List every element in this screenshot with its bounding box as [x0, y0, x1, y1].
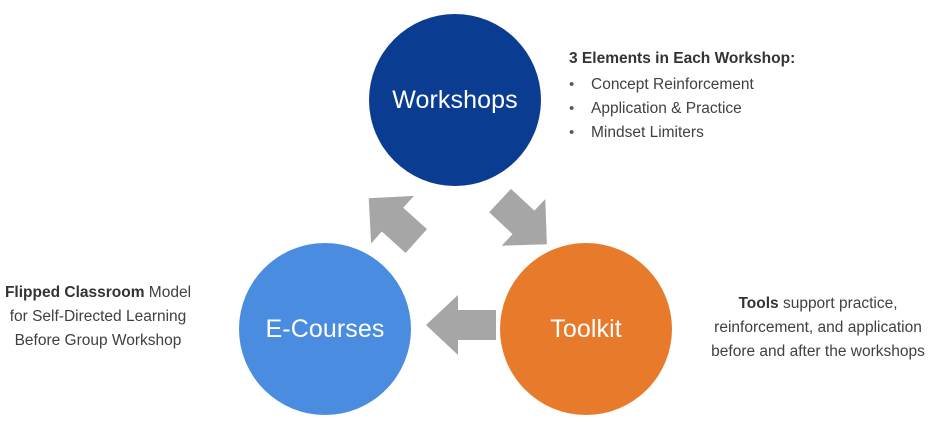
- bullet-icon: •: [569, 73, 591, 97]
- annotation-ecourses-line-2: for Self-Directed Learning: [0, 305, 196, 329]
- node-workshops-label: Workshops: [392, 88, 518, 113]
- annotation-toolkit: Tools support practice, reinforcement, a…: [694, 292, 942, 364]
- list-item: • Concept Reinforcement: [569, 73, 924, 97]
- list-item: • Application & Practice: [569, 97, 924, 121]
- bullet-icon: •: [569, 97, 591, 121]
- annotation-workshops-bullet-3: Mindset Limiters: [591, 121, 924, 145]
- node-toolkit[interactable]: Toolkit: [500, 243, 672, 415]
- arrow-workshops-to-toolkit-icon: [484, 185, 560, 257]
- annotation-toolkit-line-1: Tools support practice,: [694, 292, 942, 316]
- arrow-ecourses-to-workshops-icon: [356, 185, 432, 257]
- node-ecourses[interactable]: E-Courses: [239, 243, 411, 415]
- node-toolkit-label: Toolkit: [550, 317, 622, 342]
- annotation-ecourses-line-1-rest: Model: [145, 284, 192, 301]
- diagram-canvas: Workshops E-Courses Toolkit 3 Elements i…: [0, 0, 942, 433]
- annotation-ecourses-line-3: Before Group Workshop: [0, 329, 196, 353]
- arrow-toolkit-to-ecourses-icon: [424, 291, 498, 359]
- annotation-ecourses: Flipped Classroom Model for Self-Directe…: [0, 281, 196, 353]
- annotation-workshops-bullet-2: Application & Practice: [591, 97, 924, 121]
- bullet-icon: •: [569, 121, 591, 145]
- node-ecourses-label: E-Courses: [266, 317, 385, 342]
- annotation-workshops-heading: 3 Elements in Each Workshop:: [569, 47, 924, 71]
- node-workshops[interactable]: Workshops: [369, 14, 541, 186]
- annotation-workshops: 3 Elements in Each Workshop: • Concept R…: [569, 47, 924, 145]
- annotation-ecourses-line-1: Flipped Classroom Model: [0, 281, 196, 305]
- annotation-toolkit-line-2: reinforcement, and application: [694, 316, 942, 340]
- annotation-toolkit-line-1-rest: support practice,: [779, 295, 898, 312]
- annotation-ecourses-bold-lead: Flipped Classroom: [5, 284, 145, 301]
- annotation-toolkit-line-3: before and after the workshops: [694, 340, 942, 364]
- annotation-toolkit-bold-lead: Tools: [738, 295, 778, 312]
- annotation-workshops-bullet-1: Concept Reinforcement: [591, 73, 924, 97]
- list-item: • Mindset Limiters: [569, 121, 924, 145]
